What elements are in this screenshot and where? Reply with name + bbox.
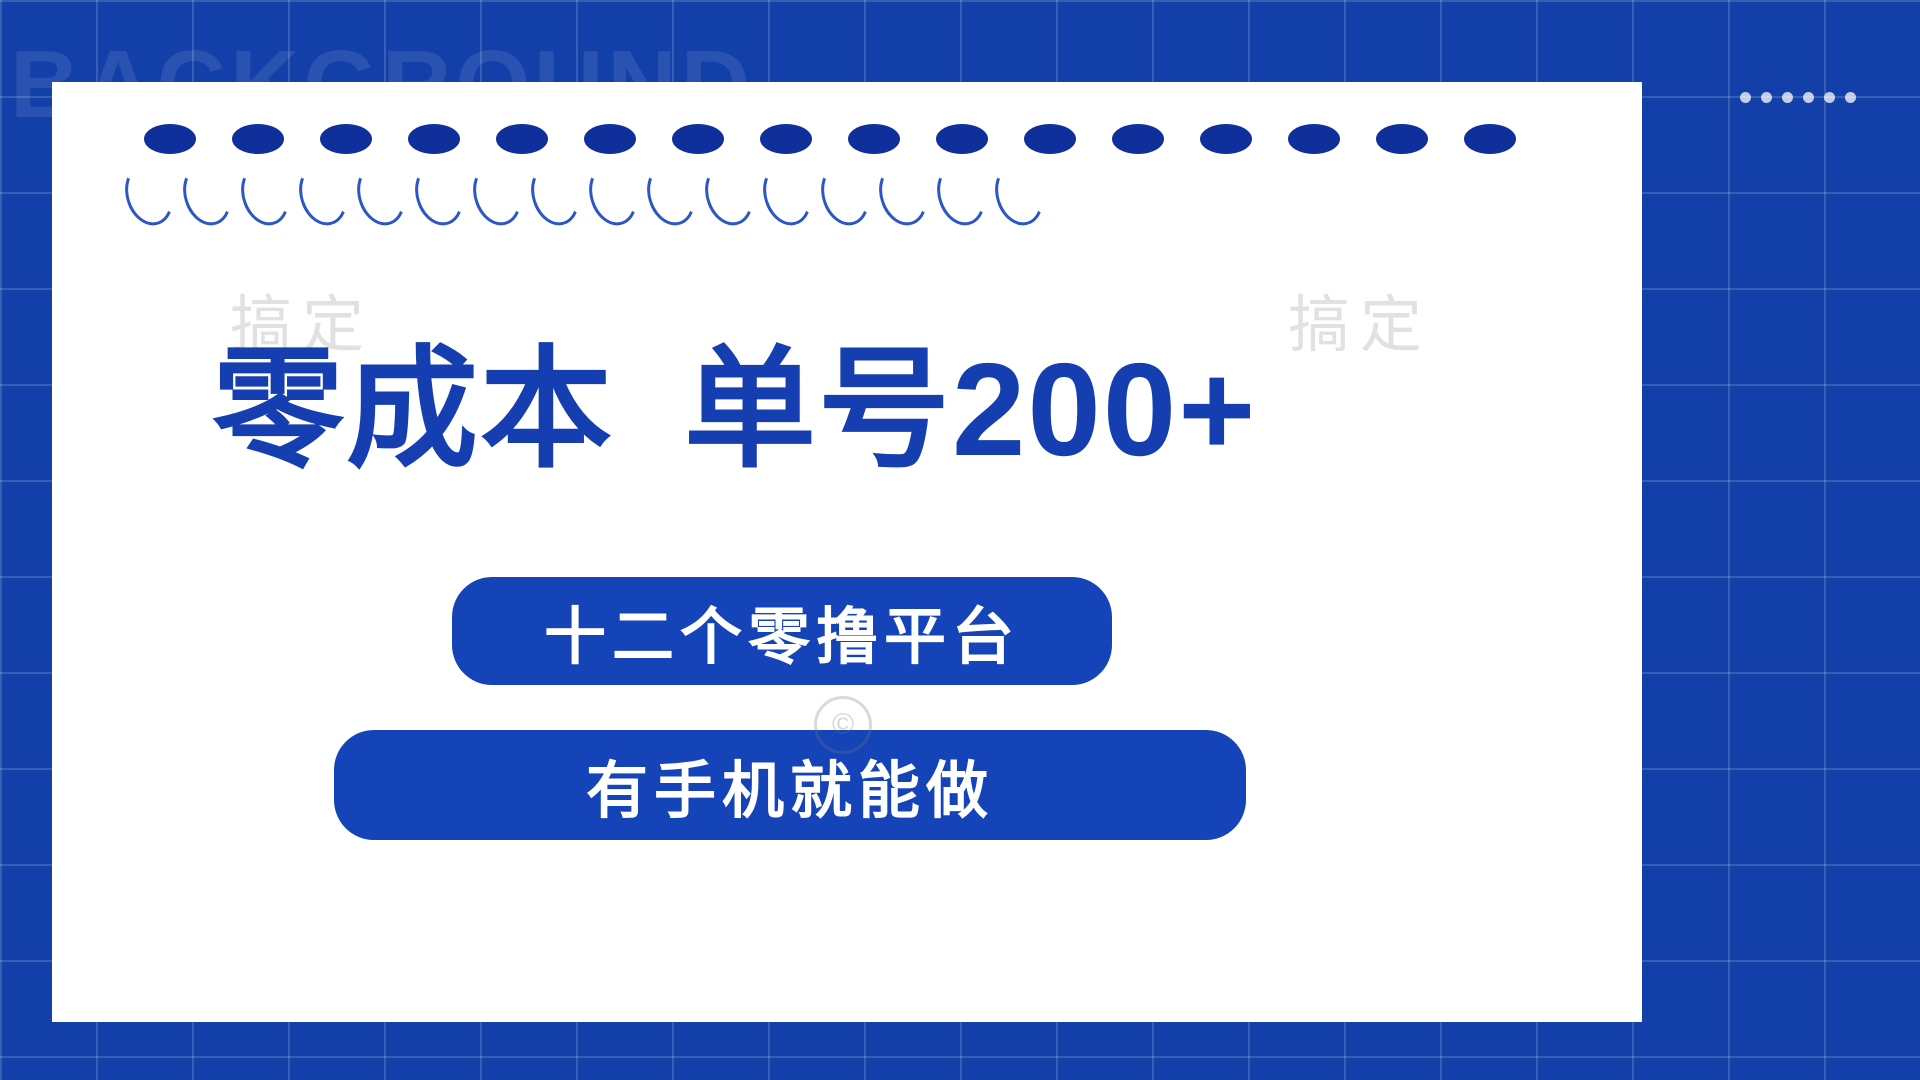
notebook-holes-row [52, 124, 1642, 164]
notebook-curls-row [52, 164, 1642, 234]
copyright-watermark-icon: © [814, 696, 872, 754]
dots-decoration-top [1740, 92, 1856, 103]
poster-canvas: BACKGROUND [0, 0, 1920, 1080]
pill-button-platforms[interactable]: 十二个零撸平台 [452, 577, 1112, 685]
headline-part-1: 零成本 [212, 336, 614, 483]
paper-card: 搞定 搞定 零成本单号200+ 十二个零撸平台 有手机就能做 © [52, 82, 1642, 1022]
page-title: 零成本单号200+ [212, 334, 1512, 486]
headline-part-2: 单号200+ [684, 336, 1257, 483]
pill-button-phone-only[interactable]: 有手机就能做 [334, 730, 1246, 840]
